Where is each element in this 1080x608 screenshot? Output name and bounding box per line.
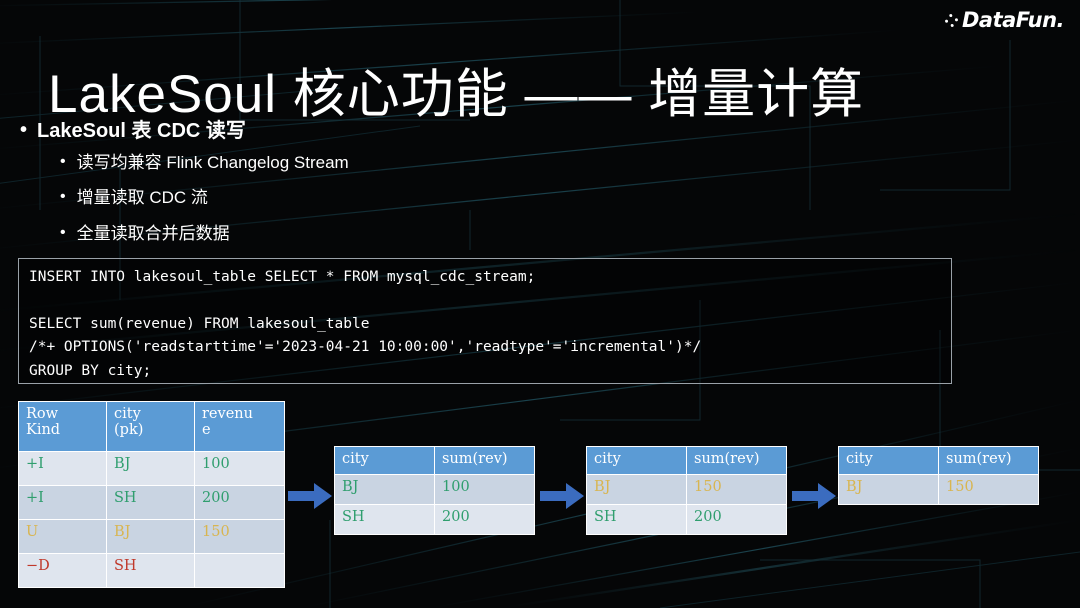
column-header-sum-rev: sum(rev) xyxy=(939,447,1039,475)
aggregate-result-step-3: city sum(rev) BJ 150 xyxy=(838,446,1039,505)
sql-code-block: INSERT INTO lakesoul_table SELECT * FROM… xyxy=(18,258,952,384)
bullet-marker-icon: • xyxy=(60,187,66,208)
cell-city: BJ xyxy=(107,452,195,486)
source-cdc-table-body: +I BJ 100 +I SH 200 U BJ 150 −D SH xyxy=(19,452,285,588)
bullet-marker-icon: • xyxy=(60,152,66,173)
cell-sum: 100 xyxy=(435,475,535,505)
table-row: +I BJ 100 xyxy=(19,452,285,486)
cell-city: BJ xyxy=(839,475,939,505)
bullet-marker-icon: • xyxy=(20,118,27,142)
table-row: −D SH xyxy=(19,554,285,588)
column-header-rowkind: Row Kind xyxy=(19,402,107,452)
source-cdc-table: Row Kind city (pk) revenu e +I BJ 100 +I… xyxy=(18,401,285,588)
column-header-sum-rev: sum(rev) xyxy=(435,447,535,475)
cell-city: SH xyxy=(107,554,195,588)
cell-sum: 200 xyxy=(435,505,535,535)
table-row: +I SH 200 xyxy=(19,486,285,520)
bullet-main: • LakeSoul 表 CDC 读写 xyxy=(20,118,349,144)
sub-bullet-label: 增量读取 CDC 流 xyxy=(77,187,208,208)
sub-bullet-list: • 读写均兼容 Flink Changelog Stream • 增量读取 CD… xyxy=(60,152,349,244)
flow-arrow-1 xyxy=(288,483,332,509)
cell-revenue xyxy=(195,554,285,588)
flow-arrow-3 xyxy=(792,483,836,509)
sql-code-text: INSERT INTO lakesoul_table SELECT * FROM… xyxy=(29,266,941,383)
column-header-revenue: revenu e xyxy=(195,402,285,452)
table-row: U BJ 150 xyxy=(19,520,285,554)
datafun-dots-icon xyxy=(944,13,959,28)
table-row: SH 200 xyxy=(335,505,535,535)
table-row: BJ 100 xyxy=(335,475,535,505)
table-row: SH 200 xyxy=(587,505,787,535)
table-header-row: Row Kind city (pk) revenu e xyxy=(19,402,285,452)
cell-city: BJ xyxy=(335,475,435,505)
sub-bullet-3: • 全量读取合并后数据 xyxy=(60,223,349,244)
column-header-city: city xyxy=(839,447,939,475)
sub-bullet-label: 读写均兼容 Flink Changelog Stream xyxy=(77,152,349,173)
cell-sum: 150 xyxy=(687,475,787,505)
table-row: BJ 150 xyxy=(587,475,787,505)
aggregate-result-step-2: city sum(rev) BJ 150 SH 200 xyxy=(586,446,787,535)
table-header-row: city sum(rev) xyxy=(335,447,535,475)
cell-revenue: 150 xyxy=(195,520,285,554)
cell-city: BJ xyxy=(587,475,687,505)
sub-bullet-1: • 读写均兼容 Flink Changelog Stream xyxy=(60,152,349,173)
brand-name: DataFun. xyxy=(962,8,1064,32)
column-header-city: city xyxy=(587,447,687,475)
sub-bullet-2: • 增量读取 CDC 流 xyxy=(60,187,349,208)
slide-title: LakeSoul 核心功能 —— 增量计算 xyxy=(48,52,864,128)
cell-city: SH xyxy=(107,486,195,520)
column-header-city: city xyxy=(335,447,435,475)
cell-city: BJ xyxy=(107,520,195,554)
column-header-sum-rev: sum(rev) xyxy=(687,447,787,475)
aggregate-result-step-1: city sum(rev) BJ 100 SH 200 xyxy=(334,446,535,535)
cell-rowkind: −D xyxy=(19,554,107,588)
column-header-city: city (pk) xyxy=(107,402,195,452)
cell-city: SH xyxy=(587,505,687,535)
cell-sum: 150 xyxy=(939,475,1039,505)
cell-rowkind: +I xyxy=(19,486,107,520)
table-header-row: city sum(rev) xyxy=(587,447,787,475)
cell-revenue: 100 xyxy=(195,452,285,486)
datafun-logo: DataFun. xyxy=(945,8,1064,32)
flow-arrow-2 xyxy=(540,483,584,509)
cell-city: SH xyxy=(335,505,435,535)
bullet-list: • LakeSoul 表 CDC 读写 • 读写均兼容 Flink Change… xyxy=(20,118,349,258)
cell-rowkind: U xyxy=(19,520,107,554)
sub-bullet-label: 全量读取合并后数据 xyxy=(77,223,230,244)
bullet-marker-icon: • xyxy=(60,223,66,244)
cell-rowkind: +I xyxy=(19,452,107,486)
table-row: BJ 150 xyxy=(839,475,1039,505)
bullet-main-label: LakeSoul 表 CDC 读写 xyxy=(37,118,246,144)
cell-revenue: 200 xyxy=(195,486,285,520)
cell-sum: 200 xyxy=(687,505,787,535)
table-header-row: city sum(rev) xyxy=(839,447,1039,475)
